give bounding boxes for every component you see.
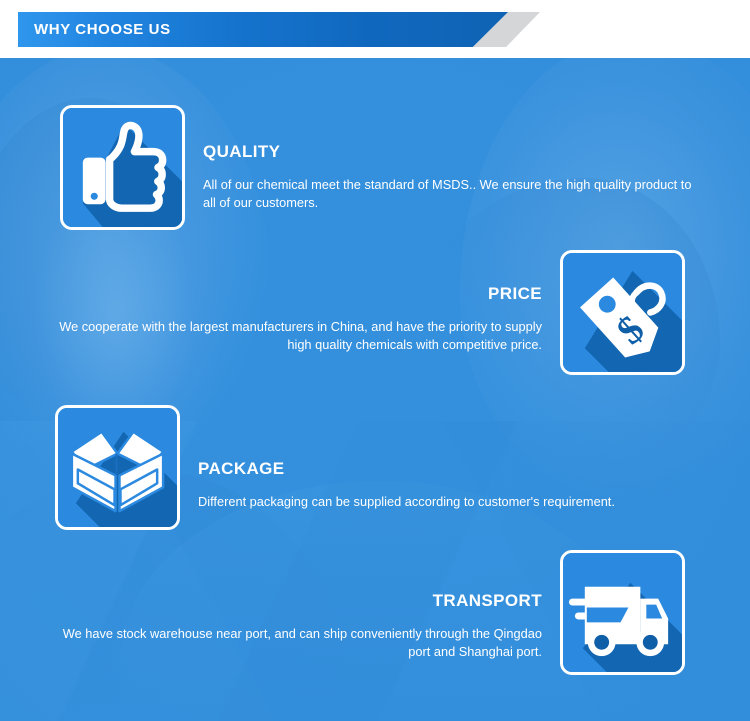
feature-text-quality: QUALITY All of our chemical meet the sta…	[203, 105, 693, 213]
why-choose-us-page: WHY CHOOSE US	[0, 0, 750, 721]
price-tag-dollar-icon-glyph: $	[563, 253, 682, 372]
feature-text-package: PACKAGE Different packaging can be suppl…	[198, 405, 688, 511]
feature-description-price: We cooperate with the largest manufactur…	[55, 318, 542, 355]
thumbs-up-icon-glyph	[63, 108, 182, 227]
feature-row-price: $ PRICE We cooperate with the largest ma…	[55, 250, 685, 375]
feature-text-price: PRICE We cooperate with the largest manu…	[55, 250, 542, 355]
feature-title-transport: TRANSPORT	[55, 592, 542, 611]
feature-title-package: PACKAGE	[198, 460, 688, 479]
feature-description-package: Different packaging can be supplied acco…	[198, 493, 688, 512]
feature-row-transport: TRANSPORT We have stock warehouse near p…	[55, 550, 685, 675]
feature-title-price: PRICE	[55, 285, 542, 304]
feature-row-package: PACKAGE Different packaging can be suppl…	[55, 405, 688, 530]
thumbs-up-icon	[60, 105, 185, 230]
feature-description-quality: All of our chemical meet the standard of…	[203, 176, 693, 213]
feature-description-transport: We have stock warehouse near port, and c…	[55, 625, 542, 662]
open-box-icon	[55, 405, 180, 530]
section-header: WHY CHOOSE US	[0, 0, 750, 58]
feature-title-quality: QUALITY	[203, 143, 693, 162]
delivery-truck-icon	[560, 550, 685, 675]
open-box-icon-glyph	[58, 408, 177, 527]
features-panel: QUALITY All of our chemical meet the sta…	[0, 58, 750, 721]
page-title: WHY CHOOSE US	[34, 12, 171, 47]
delivery-truck-icon-glyph	[563, 553, 682, 672]
feature-text-transport: TRANSPORT We have stock warehouse near p…	[55, 550, 542, 662]
feature-row-quality: QUALITY All of our chemical meet the sta…	[60, 105, 693, 230]
price-tag-dollar-icon: $	[560, 250, 685, 375]
